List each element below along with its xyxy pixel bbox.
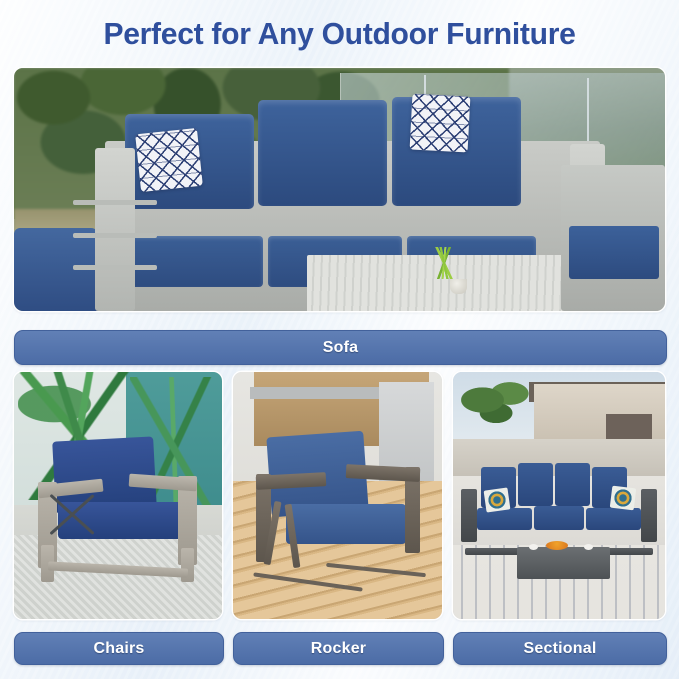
page-title: Perfect for Any Outdoor Furniture [10,16,669,52]
chairs-photo [14,372,222,619]
label-sectional[interactable]: Sectional [453,632,667,665]
rocking-chair [256,434,423,587]
chair-stretcher [48,561,188,577]
sectional-scene [453,372,665,619]
arm-slat [73,233,156,238]
chairs-scene [14,372,222,619]
label-chairs[interactable]: Chairs [14,632,224,665]
rocker-scene [233,372,442,619]
side-chair [561,165,665,311]
seat-cushion [130,236,264,287]
sofa-scene [14,68,665,311]
label-rocker-text: Rocker [311,640,366,658]
fruit-bowl [546,541,568,550]
sectional-arm-left [461,489,477,542]
sectional-arm-right [641,489,657,542]
armchair [35,439,197,582]
throw-pillow-right [410,93,471,152]
label-sectional-text: Sectional [524,640,597,658]
arm-slat [73,265,156,270]
side-chair-cushion [569,226,659,278]
label-chairs-text: Chairs [94,640,145,658]
back-cushion [258,100,387,205]
sectional-coffee-table [517,547,610,579]
sectional-back-cushion [555,463,590,506]
rocker-seat-cushion [286,504,406,544]
sectional-seat-cushion [534,506,585,530]
rocker-runner-right [326,562,426,576]
arm-slat [73,200,156,205]
sectional-seat-cushion [477,508,532,531]
plant-pot [450,279,467,294]
label-sofa[interactable]: Sofa [14,330,667,365]
label-rocker[interactable]: Rocker [233,632,444,665]
throw-pillow-left [135,128,203,192]
sofa-photo [14,68,665,311]
potted-plant-leaves [431,247,457,279]
sofa-arm-left [95,148,135,311]
sectional-throw-pillow-right [610,486,637,511]
label-sofa-text: Sofa [323,339,358,357]
tree-foliage [457,374,542,438]
infographic-page: Perfect for Any Outdoor Furniture [0,0,679,679]
rocker-photo [233,372,442,619]
sectional-throw-pillow-left [483,487,510,512]
sectional-back-cushion [518,463,553,506]
sectional-seat-cushion [586,508,641,531]
sectional-photo [453,372,665,619]
